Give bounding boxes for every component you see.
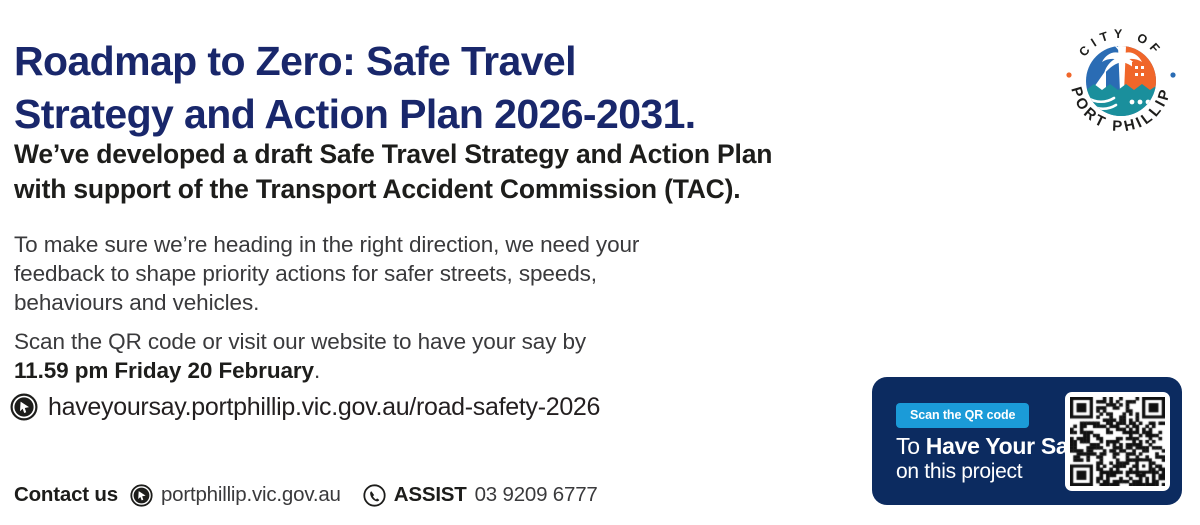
phone-handset-icon bbox=[363, 484, 386, 507]
body-one-line-1: To make sure we’re heading in the right … bbox=[14, 230, 804, 259]
logo-dot-right bbox=[1170, 72, 1175, 77]
body-paragraph-one: To make sure we’re heading in the right … bbox=[14, 230, 804, 317]
qr-card-subheading: on this project bbox=[896, 459, 1022, 484]
qr-heading-bold: Have Your Say bbox=[926, 433, 1081, 459]
page-title-line-2: Strategy and Action Plan 2026-2031. bbox=[14, 88, 914, 141]
body-two-line-2: 11.59 pm Friday 20 February. bbox=[14, 356, 804, 385]
cursor-pointer-icon bbox=[130, 484, 153, 507]
submission-deadline: 11.59 pm Friday 20 February bbox=[14, 358, 314, 383]
logo-dot-left bbox=[1066, 72, 1071, 77]
deadline-period: . bbox=[314, 358, 320, 383]
contact-row: Contact us portphillip.vic.gov.au ASSIST… bbox=[14, 483, 598, 507]
contact-website[interactable]: portphillip.vic.gov.au bbox=[161, 483, 341, 507]
city-of-port-phillip-logo: CITY OF PORT PHILLIP bbox=[1058, 18, 1184, 144]
subheading-line-1: We’ve developed a draft Safe Travel Stra… bbox=[14, 137, 914, 172]
body-two-line-1: Scan the QR code or visit our website to… bbox=[14, 327, 804, 356]
body-one-line-2: feedback to shape priority actions for s… bbox=[14, 259, 804, 288]
qr-promo-card[interactable]: Scan the QR code To Have Your Say on thi… bbox=[872, 377, 1182, 505]
body-paragraph-two: Scan the QR code or visit our website to… bbox=[14, 327, 804, 385]
page-title-line-1: Roadmap to Zero: Safe Travel bbox=[14, 35, 914, 88]
assist-phone-number[interactable]: 03 9209 6777 bbox=[475, 483, 598, 507]
qr-code-canvas bbox=[1070, 397, 1165, 486]
subheading: We’ve developed a draft Safe Travel Stra… bbox=[14, 137, 914, 207]
haveyoursay-link-row[interactable]: haveyoursay.portphillip.vic.gov.au/road-… bbox=[10, 392, 600, 422]
body-one-line-3: behaviours and vehicles. bbox=[14, 288, 804, 317]
subheading-line-2: with support of the Transport Accident C… bbox=[14, 172, 914, 207]
qr-heading-light: To bbox=[896, 433, 926, 459]
cursor-pointer-icon bbox=[10, 393, 38, 421]
poster-canvas: Roadmap to Zero: Safe Travel Strategy an… bbox=[0, 0, 1200, 525]
qr-code[interactable] bbox=[1065, 392, 1170, 491]
contact-label: Contact us bbox=[14, 483, 118, 507]
qr-card-heading: To Have Your Say bbox=[896, 433, 1081, 459]
scan-qr-badge: Scan the QR code bbox=[896, 403, 1029, 428]
page-title: Roadmap to Zero: Safe Travel Strategy an… bbox=[14, 35, 914, 141]
assist-label: ASSIST bbox=[394, 483, 467, 507]
haveyoursay-url[interactable]: haveyoursay.portphillip.vic.gov.au/road-… bbox=[48, 392, 600, 422]
